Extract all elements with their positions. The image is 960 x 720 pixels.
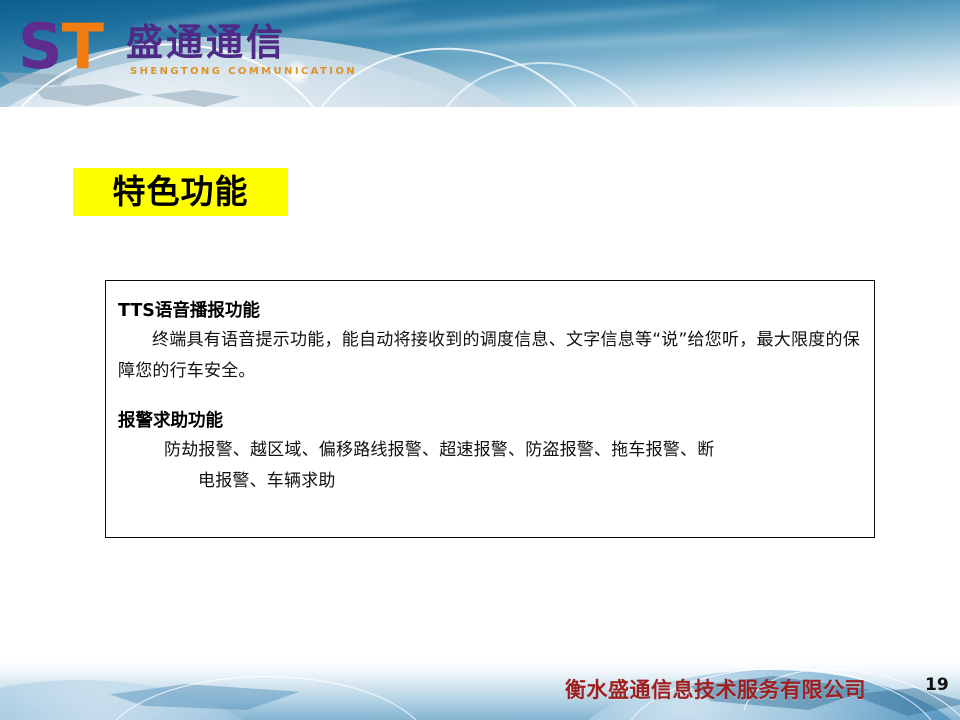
slide-canvas: ST 盛通通信 SHENGTONG COMMUNICATION 特色功能 TTS… [0,0,960,720]
logo-company-name-en: SHENGTONG COMMUNICATION [130,66,357,77]
logo-letter-t: T [62,10,103,83]
logo-company-name-cn: 盛通通信 [126,22,286,64]
page-title: 特色功能 [113,174,249,210]
footer-orbit-arc-icon [100,676,432,720]
page-number: 19 [925,675,949,695]
logo-letter-s: S [18,10,62,83]
content-box: TTS语音播报功能 终端具有语音提示功能，能自动将接收到的调度信息、文字信息等“… [105,280,875,538]
section-heading-alarm: 报警求助功能 [118,409,860,433]
section-spacer [118,387,860,409]
footer-company-name: 衡水盛通信息技术服务有限公司 [565,674,866,704]
section-body-tts-text: 终端具有语音提示功能，能自动将接收到的调度信息、文字信息等“说”给您听，最大限度… [118,330,860,381]
alarm-line-1: 防劫报警、越区域、偏移路线报警、超速报警、防盗报警、拖车报警、断 [118,435,860,466]
section-title-box: 特色功能 [73,168,288,216]
company-logo: ST 盛通通信 SHENGTONG COMMUNICATION [18,16,318,88]
alarm-line-2: 电报警、车辆求助 [118,466,860,497]
section-heading-tts: TTS语音播报功能 [118,299,860,323]
header-banner: ST 盛通通信 SHENGTONG COMMUNICATION [0,0,960,107]
logo-mark: ST [18,16,103,78]
section-body-alarm: 防劫报警、越区域、偏移路线报警、超速报警、防盗报警、拖车报警、断 电报警、车辆求… [118,435,860,497]
section-body-tts: 终端具有语音提示功能，能自动将接收到的调度信息、文字信息等“说”给您听，最大限度… [118,325,860,387]
